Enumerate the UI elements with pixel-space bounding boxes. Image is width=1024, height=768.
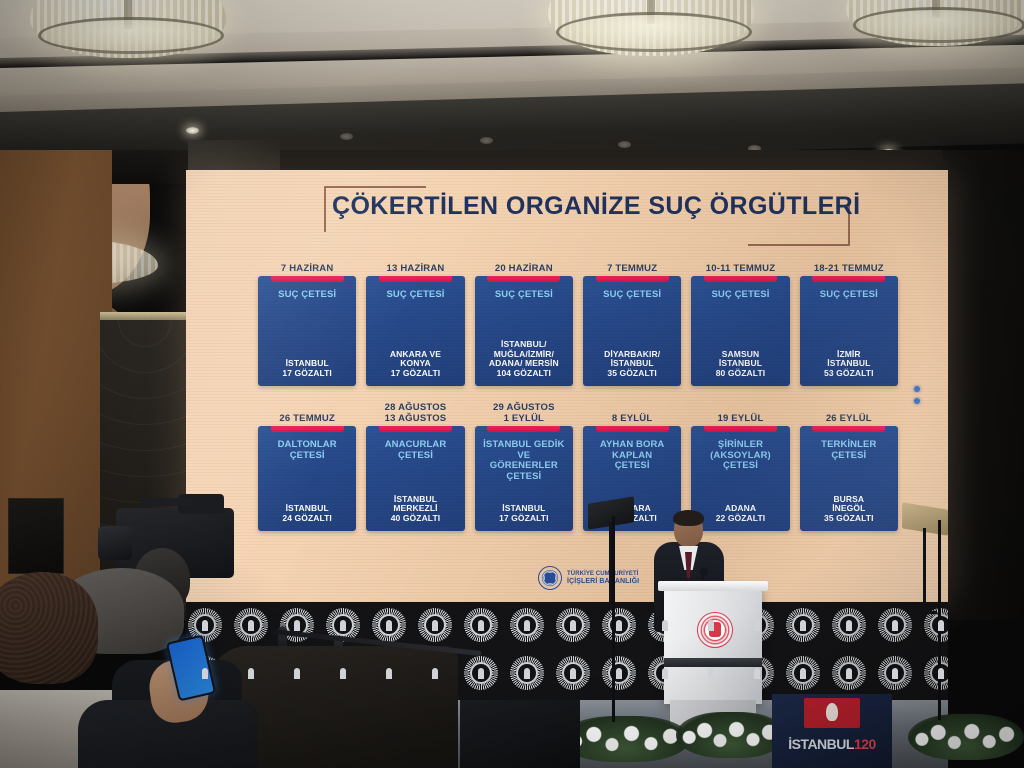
- operation-date: 7 HAZİRAN: [258, 244, 356, 276]
- operation-cell: 7 TEMMUZ SUÇ ÇETESİ DİYARBAKIR/İSTANBUL3…: [583, 244, 681, 386]
- operation-cell: 26 EYLÜL TERKİNLERÇETESİ BURSAİNEGÖL35 G…: [800, 394, 898, 531]
- operation-date: 13 HAZİRAN: [366, 244, 464, 276]
- card-tab: [271, 426, 344, 432]
- ministry-emblem-icon: [832, 608, 866, 642]
- gang-name: SUÇ ÇETESİ: [263, 290, 351, 301]
- operation-card: SUÇ ÇETESİ İSTANBUL17 GÖZALTI: [258, 276, 356, 386]
- camera-handle: [140, 498, 192, 506]
- operation-card: SUÇ ÇETESİ SAMSUNİSTANBUL80 GÖZALTI: [691, 276, 789, 386]
- ministry-emblem-icon: [924, 656, 948, 690]
- ministry-emblem-icon: [602, 656, 636, 690]
- operation-date: 18-21 TEMMUZ: [800, 244, 898, 276]
- page-title: ÇÖKERTİLEN ORGANİZE SUÇ ÖRGÜTLERİ: [332, 192, 842, 221]
- gang-name: ANACURLARÇETESİ: [371, 440, 459, 461]
- card-tab: [704, 426, 777, 432]
- gang-info: İSTANBUL17 GÖZALTI: [480, 504, 568, 523]
- confidence-monitor-right: [902, 506, 948, 532]
- sign-text-main: İSTANBUL: [788, 736, 854, 752]
- ministry-emblem-icon: [556, 608, 590, 642]
- operation-cell: 28 AĞUSTOS13 AĞUSTOS ANACURLARÇETESİ İST…: [366, 394, 464, 531]
- gang-info: İSTANBULMERKEZLİ40 GÖZALTI: [371, 495, 459, 524]
- card-tab: [271, 276, 344, 282]
- ministry-emblem-icon: [464, 608, 498, 642]
- ministry-emblem-icon: [602, 608, 636, 642]
- operation-date: 26 EYLÜL: [800, 394, 898, 426]
- card-tab: [487, 276, 560, 282]
- gang-info: DİYARBAKIR/İSTANBUL35 GÖZALTI: [588, 350, 676, 379]
- chandelier-right: [846, 0, 1024, 46]
- sign-crest-plate: [804, 698, 860, 728]
- ministry-emblem-icon: [786, 608, 820, 642]
- operation-card: DALTONLARÇETESİ İSTANBUL24 GÖZALTI: [258, 426, 356, 531]
- operation-cell: 7 HAZİRAN SUÇ ÇETESİ İSTANBUL17 GÖZALTI: [258, 244, 356, 386]
- card-tab: [596, 276, 669, 282]
- card-tab: [812, 276, 885, 282]
- operation-card: İSTANBUL GEDİK VEGÖRENERLERÇETESİ İSTANB…: [475, 426, 573, 531]
- gang-name: İSTANBUL GEDİK VEGÖRENERLERÇETESİ: [480, 440, 568, 482]
- ministry-emblem-icon: [878, 656, 912, 690]
- operation-date: 29 AĞUSTOS1 EYLÜL: [475, 394, 573, 426]
- operation-date: 19 EYLÜL: [691, 394, 789, 426]
- operation-card: SUÇ ÇETESİ DİYARBAKIR/İSTANBUL35 GÖZALTI: [583, 276, 681, 386]
- ceiling-spotlight: [340, 133, 353, 140]
- ceiling-spotlight: [480, 137, 493, 144]
- operations-row-1: 7 HAZİRAN SUÇ ÇETESİ İSTANBUL17 GÖZALTI …: [258, 244, 898, 386]
- ministry-logo-text: TÜRKİYE CUMHURİYETİ İÇİŞLERİ BAKANLIĞI: [567, 571, 639, 585]
- gang-info: İZMİRİSTANBUL53 GÖZALTI: [805, 350, 893, 379]
- press-conference-scene: ÇÖKERTİLEN ORGANİZE SUÇ ÖRGÜTLERİ 7 HAZİ…: [0, 0, 1024, 768]
- operation-cell: 13 HAZİRAN SUÇ ÇETESİ ANKARA VEKONYA17 G…: [366, 244, 464, 386]
- gang-name: AYHAN BORAKAPLANÇETESİ: [588, 440, 676, 472]
- operation-date: 7 TEMMUZ: [583, 244, 681, 276]
- gang-info: BURSAİNEGÖL35 GÖZALTI: [805, 495, 893, 524]
- wall-panel-trim: [100, 312, 192, 320]
- operations-row-2: 26 TEMMUZ DALTONLARÇETESİ İSTANBUL24 GÖZ…: [258, 394, 898, 531]
- ministry-emblem-icon: [418, 608, 452, 642]
- flower-arrangement: [676, 712, 786, 758]
- loudspeaker-cabinet: [8, 498, 64, 574]
- card-tab: [379, 426, 452, 432]
- ministry-emblem-icon: [464, 656, 498, 690]
- ceiling-spotlight: [186, 127, 199, 134]
- sign-text-number: 120: [854, 736, 876, 752]
- operation-cell: 10-11 TEMMUZ SUÇ ÇETESİ SAMSUNİSTANBUL80…: [691, 244, 789, 386]
- ministry-seal-icon: [538, 566, 562, 590]
- ministry-emblem-icon: [786, 656, 820, 690]
- gang-name: SUÇ ÇETESİ: [805, 290, 893, 301]
- gang-info: ANKARA VEKONYA17 GÖZALTI: [371, 350, 459, 379]
- ministry-emblem-icon: [878, 608, 912, 642]
- gang-info: İSTANBUL24 GÖZALTI: [263, 504, 351, 523]
- podium-band: [664, 658, 762, 667]
- operation-card: SUÇ ÇETESİ İSTANBUL/MUĞLA/İZMİR/ADANA/ M…: [475, 276, 573, 386]
- operation-cell: 18-21 TEMMUZ SUÇ ÇETESİ İZMİRİSTANBUL53 …: [800, 244, 898, 386]
- card-tab: [596, 426, 669, 432]
- gang-name: ŞİRİNLER(AKSOYLAR)ÇETESİ: [696, 440, 784, 472]
- operation-card: SUÇ ÇETESİ ANKARA VEKONYA17 GÖZALTI: [366, 276, 464, 386]
- operation-date: 10-11 TEMMUZ: [691, 244, 789, 276]
- operation-date: 20 HAZİRAN: [475, 244, 573, 276]
- ministry-emblem-icon: [510, 608, 544, 642]
- operation-date: 26 TEMMUZ: [258, 394, 356, 426]
- gang-name: SUÇ ÇETESİ: [480, 290, 568, 301]
- card-tab: [812, 426, 885, 432]
- ministry-logo-on-screen: TÜRKİYE CUMHURİYETİ İÇİŞLERİ BAKANLIĞI: [538, 566, 639, 590]
- ministry-logo-line1: TÜRKİYE CUMHURİYETİ: [567, 571, 639, 578]
- camera-lens: [98, 526, 132, 560]
- gang-info: SAMSUNİSTANBUL80 GÖZALTI: [696, 350, 784, 379]
- gang-name: SUÇ ÇETESİ: [588, 290, 676, 301]
- foreground-equipment: [460, 700, 580, 768]
- sign-text: İSTANBUL120: [772, 736, 892, 752]
- istanbul-120-sign: İSTANBUL120: [772, 694, 892, 768]
- ministry-crest-icon: [697, 612, 733, 648]
- chandelier-center: [548, 0, 754, 56]
- podium-top: [658, 581, 768, 591]
- operation-cell: 26 TEMMUZ DALTONLARÇETESİ İSTANBUL24 GÖZ…: [258, 394, 356, 531]
- ministry-emblem-icon: [234, 608, 268, 642]
- crest-icon: [826, 703, 838, 721]
- ministry-emblem-icon: [556, 656, 590, 690]
- presentation-title-block: ÇÖKERTİLEN ORGANİZE SUÇ ÖRGÜTLERİ: [332, 192, 842, 238]
- operation-cell: 19 EYLÜL ŞİRİNLER(AKSOYLAR)ÇETESİ ADANA2…: [691, 394, 789, 531]
- ministry-logo-line2: İÇİŞLERİ BAKANLIĞI: [567, 578, 639, 585]
- operation-date: 8 EYLÜL: [583, 394, 681, 426]
- foreground-person-hair: [0, 572, 98, 684]
- operation-date: 28 AĞUSTOS13 AĞUSTOS: [366, 394, 464, 426]
- chandelier-left: [30, 0, 226, 58]
- led-presentation-screen: ÇÖKERTİLEN ORGANİZE SUÇ ÖRGÜTLERİ 7 HAZİ…: [186, 170, 948, 602]
- wall-right-dark: [942, 150, 1024, 620]
- screen-indicator-dot: [914, 398, 920, 404]
- gang-info: İSTANBUL/MUĞLA/İZMİR/ADANA/ MERSİN104 GÖ…: [480, 340, 568, 378]
- card-tab: [379, 276, 452, 282]
- ministry-emblem-icon: [832, 656, 866, 690]
- gang-name: TERKİNLERÇETESİ: [805, 440, 893, 461]
- podium: [664, 586, 762, 704]
- card-tab: [487, 426, 560, 432]
- operation-card: SUÇ ÇETESİ İZMİRİSTANBUL53 GÖZALTI: [800, 276, 898, 386]
- screen-indicator-dot: [914, 386, 920, 392]
- ceiling-spotlight: [618, 141, 631, 148]
- operation-card: ANACURLARÇETESİ İSTANBULMERKEZLİ40 GÖZAL…: [366, 426, 464, 531]
- card-tab: [704, 276, 777, 282]
- gang-name: SUÇ ÇETESİ: [696, 290, 784, 301]
- microphone-stand: [612, 516, 615, 722]
- speaker-hair: [673, 510, 704, 526]
- gang-info: İSTANBUL17 GÖZALTI: [263, 359, 351, 378]
- confidence-monitor-left: [588, 500, 634, 526]
- ministry-emblem-icon: [372, 608, 406, 642]
- operations-grid: 7 HAZİRAN SUÇ ÇETESİ İSTANBUL17 GÖZALTI …: [258, 244, 898, 539]
- operation-card: TERKİNLERÇETESİ BURSAİNEGÖL35 GÖZALTI: [800, 426, 898, 531]
- ministry-emblem-icon: [510, 656, 544, 690]
- operation-cell: 20 HAZİRAN SUÇ ÇETESİ İSTANBUL/MUĞLA/İZM…: [475, 244, 573, 386]
- operation-cell: 29 AĞUSTOS1 EYLÜL İSTANBUL GEDİK VEGÖREN…: [475, 394, 573, 531]
- gang-name: SUÇ ÇETESİ: [371, 290, 459, 301]
- flower-arrangement: [908, 714, 1024, 760]
- gang-name: DALTONLARÇETESİ: [263, 440, 351, 461]
